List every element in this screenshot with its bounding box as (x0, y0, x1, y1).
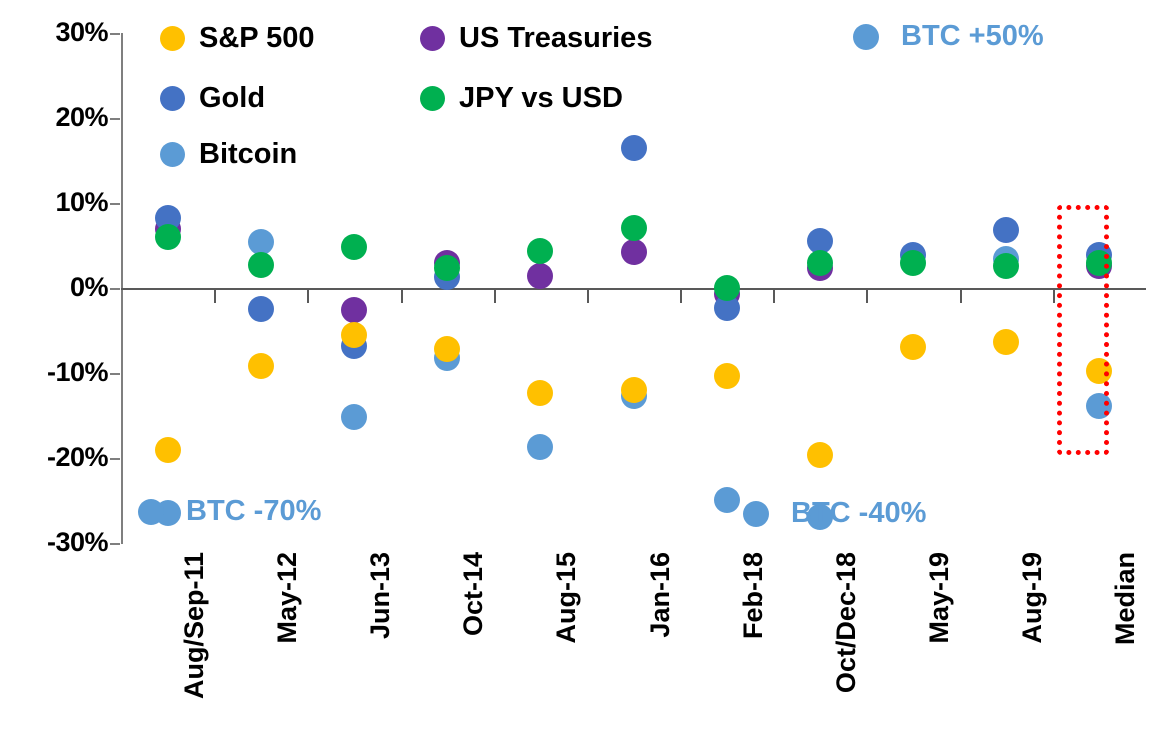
annotation-marker-icon (743, 501, 769, 527)
y-tick-mark (110, 118, 120, 120)
legend-label: S&P 500 (199, 24, 315, 53)
annotation-marker-icon (853, 24, 879, 50)
y-tick-mark (110, 458, 120, 460)
legend-item-s-p-500[interactable]: S&P 500 (160, 24, 315, 53)
x-axis-label: May-19 (926, 552, 953, 644)
legend-label: JPY vs USD (459, 84, 623, 113)
y-tick-label: 10% (8, 189, 108, 216)
data-point-jpy-vs-usd (155, 224, 181, 250)
x-axis-label: Oct-14 (460, 552, 487, 636)
data-point-bitcoin (714, 487, 740, 513)
y-tick-mark (110, 373, 120, 375)
data-point-s-p-500 (993, 329, 1019, 355)
y-tick-label: -10% (8, 359, 108, 386)
y-tick-mark (110, 288, 120, 290)
annotation-btc-minus-70: BTC -70% (138, 497, 321, 526)
data-point-jpy-vs-usd (993, 253, 1019, 279)
data-point-bitcoin (527, 434, 553, 460)
y-tick-label: 0% (8, 274, 108, 301)
y-tick-mark (110, 33, 120, 35)
data-point-jpy-vs-usd (527, 238, 553, 264)
data-point-jpy-vs-usd (248, 252, 274, 278)
scatter-chart: 30%20%10%0%-10%-20%-30% Aug/Sep-11May-12… (0, 0, 1151, 739)
y-tick-label: -30% (8, 529, 108, 556)
x-axis-label: Aug/Sep-11 (181, 552, 208, 699)
x-axis-label: Aug-15 (553, 552, 580, 644)
legend-marker-icon (160, 86, 185, 111)
data-point-s-p-500 (248, 353, 274, 379)
legend-item-us-treasuries[interactable]: US Treasuries (420, 24, 652, 53)
data-point-us-treasuries (341, 297, 367, 323)
median-highlight-box (1057, 205, 1109, 455)
data-point-jpy-vs-usd (621, 215, 647, 241)
x-axis-label: Feb-18 (740, 552, 767, 639)
x-axis-label: Oct/Dec-18 (833, 552, 860, 693)
data-point-s-p-500 (807, 442, 833, 468)
data-point-us-treasuries (621, 239, 647, 265)
data-point-us-treasuries (527, 263, 553, 289)
x-axis-label: May-12 (274, 552, 301, 644)
legend-marker-icon (420, 26, 445, 51)
data-point-jpy-vs-usd (807, 250, 833, 276)
annotation-btc-plus-50: BTC +50% (853, 22, 1044, 51)
legend-item-jpy-vs-usd[interactable]: JPY vs USD (420, 84, 623, 113)
data-point-jpy-vs-usd (714, 275, 740, 301)
data-point-s-p-500 (527, 380, 553, 406)
y-tick-mark (110, 543, 120, 545)
legend-marker-icon (420, 86, 445, 111)
y-tick-mark (110, 203, 120, 205)
data-point-s-p-500 (900, 334, 926, 360)
legend-marker-icon (160, 26, 185, 51)
data-point-s-p-500 (621, 377, 647, 403)
data-point-s-p-500 (714, 363, 740, 389)
data-point-jpy-vs-usd (900, 250, 926, 276)
legend-label: Bitcoin (199, 140, 297, 169)
legend-marker-icon (160, 142, 185, 167)
data-point-s-p-500 (155, 437, 181, 463)
data-point-jpy-vs-usd (341, 234, 367, 260)
y-tick-label: -20% (8, 444, 108, 471)
x-axis-label: Aug-19 (1019, 552, 1046, 644)
annotation-btc-minus-40: BTC -40% (743, 499, 926, 528)
x-axis-label: Jun-13 (367, 552, 394, 639)
data-point-s-p-500 (341, 322, 367, 348)
data-point-gold (248, 296, 274, 322)
annotation-label: BTC -70% (186, 497, 321, 526)
annotation-label: BTC -40% (791, 499, 926, 528)
annotation-marker-icon (138, 499, 164, 525)
x-axis-label: Jan-16 (647, 552, 674, 638)
annotation-label: BTC +50% (901, 22, 1044, 51)
data-point-gold (993, 217, 1019, 243)
legend-item-bitcoin[interactable]: Bitcoin (160, 140, 297, 169)
legend-label: US Treasuries (459, 24, 652, 53)
x-axis-label: Median (1112, 552, 1139, 645)
legend-item-gold[interactable]: Gold (160, 84, 265, 113)
legend-label: Gold (199, 84, 265, 113)
data-point-bitcoin (341, 404, 367, 430)
